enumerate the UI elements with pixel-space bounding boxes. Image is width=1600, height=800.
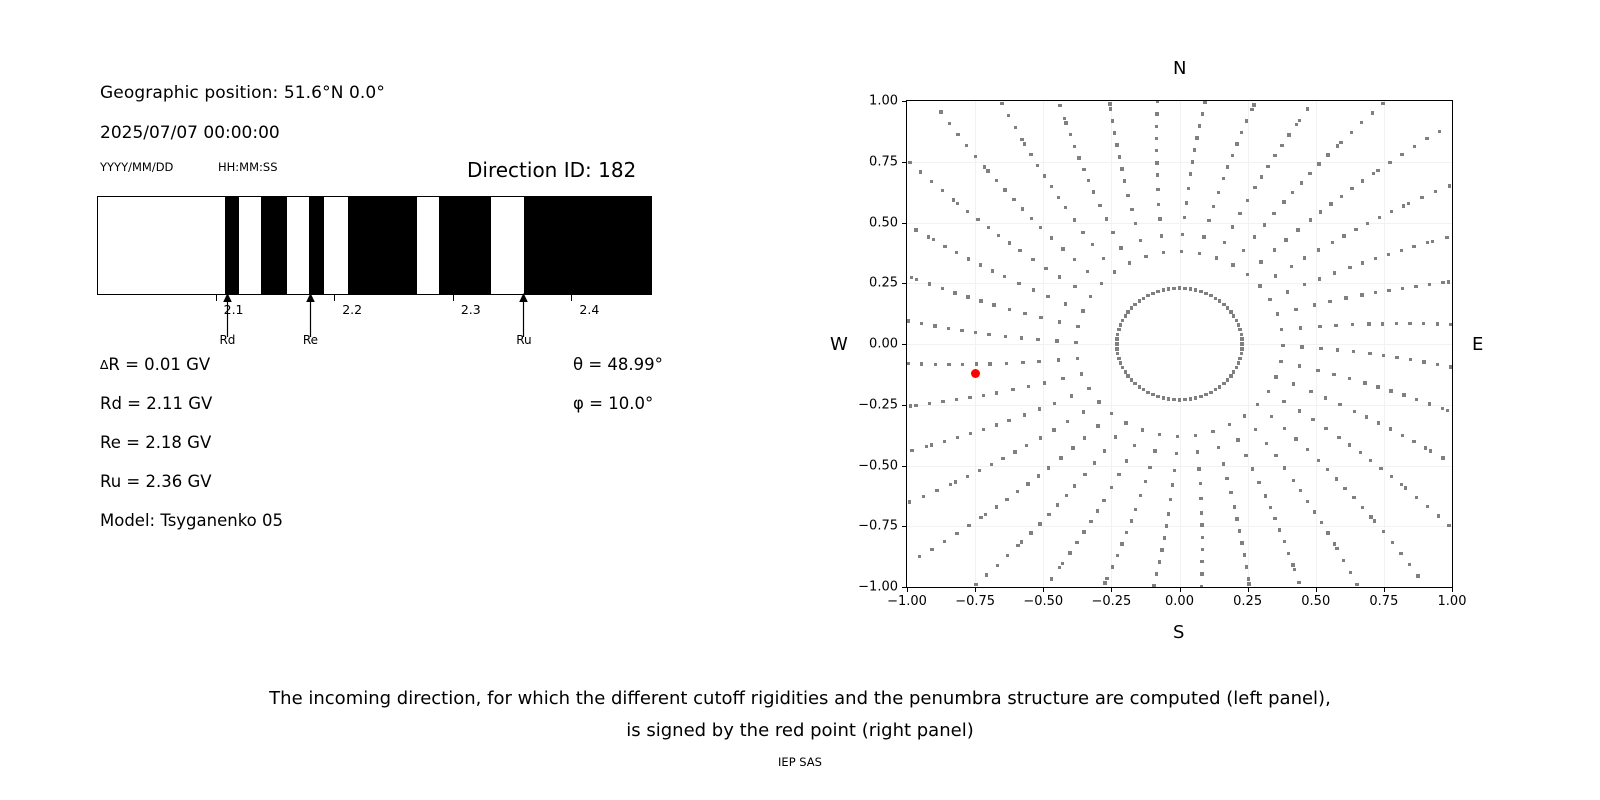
direction-point: [1231, 225, 1234, 228]
direction-point: [1424, 446, 1427, 449]
left-panel: Geographic position: 51.6°N 0.0° 2025/07…: [0, 0, 760, 660]
direction-point: [1390, 210, 1393, 213]
penumbra-marker-label-re: Re: [303, 333, 318, 347]
direction-point: [1426, 505, 1429, 508]
direction-point: [1115, 337, 1118, 340]
direction-point: [1200, 572, 1203, 575]
direction-point: [910, 449, 913, 452]
direction-point: [956, 133, 959, 136]
direction-point: [1235, 517, 1238, 520]
direction-point: [1222, 462, 1225, 465]
direction-point: [1235, 319, 1238, 322]
y-tick-label: −0.75: [858, 519, 898, 534]
direction-point: [1401, 434, 1404, 437]
direction-point: [1333, 271, 1336, 274]
direction-point: [1336, 348, 1339, 351]
direction-point: [1012, 198, 1015, 201]
direction-point: [1116, 352, 1119, 355]
direction-point: [1115, 342, 1118, 345]
direction-point: [1105, 577, 1108, 580]
direction-point: [927, 235, 930, 238]
direction-point: [1449, 323, 1452, 326]
direction-point: [995, 391, 998, 394]
direction-point: [1425, 137, 1428, 140]
direction-point: [1163, 536, 1166, 539]
direction-point: [1416, 574, 1419, 577]
direction-point: [1004, 335, 1007, 338]
direction-point: [1144, 480, 1147, 483]
direction-point: [1119, 246, 1122, 249]
direction-point: [1352, 496, 1355, 499]
direction-point: [1038, 407, 1041, 410]
direction-point: [1222, 382, 1225, 385]
direction-point: [939, 110, 942, 113]
direction-point: [1415, 398, 1418, 401]
direction-point: [1200, 511, 1203, 514]
direction-point: [1032, 288, 1035, 291]
right-panel: N S W E −1.00−0.75−0.50−0.250.000.250.50…: [760, 0, 1600, 660]
direction-point: [1231, 263, 1234, 266]
direction-point: [1191, 160, 1194, 163]
direction-point: [1103, 449, 1106, 452]
direction-point: [910, 276, 913, 279]
penumbra-tick-label: 2.3: [461, 302, 481, 317]
direction-point: [1050, 185, 1053, 188]
direction-point: [1309, 390, 1312, 393]
direction-point: [1194, 434, 1197, 437]
direction-point: [1243, 414, 1246, 417]
direction-point: [1025, 444, 1028, 447]
direction-point: [1075, 541, 1078, 544]
direction-point: [1021, 207, 1024, 210]
direction-point: [1081, 231, 1084, 234]
direction-point: [1437, 514, 1440, 517]
y-tick-mark: [902, 405, 906, 406]
selected-direction-point[interactable]: [971, 369, 980, 378]
direction-point: [1200, 560, 1203, 563]
direction-point: [1401, 287, 1404, 290]
direction-point: [1303, 256, 1306, 259]
direction-point: [1318, 325, 1321, 328]
direction-point: [1308, 172, 1311, 175]
direction-point: [1420, 196, 1423, 199]
direction-point: [1139, 239, 1142, 242]
direction-point: [1291, 563, 1294, 566]
direction-point: [1434, 190, 1437, 193]
direction-point: [1118, 155, 1121, 158]
datetime-label: 2025/07/07 00:00:00: [100, 123, 280, 143]
direction-point: [955, 398, 958, 401]
direction-point: [1047, 513, 1050, 516]
direction-point: [1240, 352, 1243, 355]
direction-point: [1116, 333, 1119, 336]
direction-point: [1276, 312, 1279, 315]
direction-point: [1146, 294, 1149, 297]
parameter--: θ = 48.99°: [573, 355, 663, 374]
direction-point: [1317, 248, 1320, 251]
direction-point: [1381, 322, 1384, 325]
direction-point: [985, 573, 988, 576]
direction-point: [1281, 344, 1284, 347]
direction-point: [1162, 396, 1165, 399]
direction-point: [1058, 104, 1061, 107]
direction-point: [922, 495, 925, 498]
direction-point: [1373, 519, 1376, 522]
direction-point: [1388, 161, 1391, 164]
direction-point: [1324, 396, 1327, 399]
direction-point: [1229, 491, 1232, 494]
direction-point: [1240, 347, 1243, 350]
compass-label-west: W: [830, 334, 848, 355]
direction-point: [1082, 530, 1085, 533]
direction-point: [1266, 165, 1269, 168]
y-tick-label: 0.25: [869, 276, 898, 291]
direction-point: [1245, 565, 1248, 568]
direction-point: [1199, 497, 1202, 500]
direction-point: [1369, 459, 1372, 462]
direction-point: [1280, 144, 1283, 147]
direction-point: [1023, 413, 1026, 416]
direction-point: [1102, 499, 1105, 502]
direction-point: [1242, 249, 1245, 252]
compass-label-north: N: [1173, 58, 1186, 79]
direction-point: [1076, 357, 1079, 360]
direction-point: [1226, 165, 1229, 168]
y-tick-mark: [902, 344, 906, 345]
direction-point: [996, 564, 999, 567]
direction-point: [1382, 530, 1385, 533]
x-tick-mark: [907, 588, 908, 592]
direction-point: [1039, 226, 1042, 229]
direction-point: [1387, 289, 1390, 292]
direction-point: [1037, 360, 1040, 363]
direction-point: [1232, 314, 1235, 317]
direction-point: [1238, 357, 1241, 360]
direction-point: [1200, 585, 1203, 588]
date-format-hint: YYYY/MM/DD: [100, 160, 173, 174]
direction-point: [1359, 451, 1362, 454]
direction-point: [1148, 466, 1151, 469]
x-tick-mark: [1111, 588, 1112, 592]
direction-point: [1096, 424, 1099, 427]
direction-point: [1165, 524, 1168, 527]
direction-point: [1212, 205, 1215, 208]
geographic-position-label: Geographic position: 51.6°N 0.0°: [100, 83, 385, 103]
direction-point: [1053, 402, 1056, 405]
direction-point: [1233, 505, 1236, 508]
direction-point: [1369, 515, 1372, 518]
direction-point: [1037, 474, 1040, 477]
y-tick-mark: [902, 587, 906, 588]
direction-point: [1008, 308, 1011, 311]
direction-point: [1279, 360, 1282, 363]
x-tick-mark: [975, 588, 976, 592]
direction-point: [1096, 509, 1099, 512]
direction-point: [1428, 283, 1431, 286]
direction-point: [1350, 131, 1353, 134]
penumbra-marker-arrow-rd: [221, 293, 234, 337]
direction-point: [1441, 456, 1444, 459]
direction-point: [1354, 228, 1357, 231]
direction-point: [1189, 172, 1192, 175]
direction-point: [1113, 270, 1116, 273]
direction-point: [1023, 312, 1026, 315]
direction-point: [914, 404, 917, 407]
direction-point: [1361, 179, 1364, 182]
direction-point: [1350, 187, 1353, 190]
penumbra-tick-label: 2.2: [342, 302, 362, 317]
direction-point: [975, 362, 978, 365]
direction-point: [992, 303, 995, 306]
direction-point: [1217, 191, 1220, 194]
direction-point: [1173, 469, 1176, 472]
direction-point: [1317, 162, 1320, 165]
direction-point: [1447, 524, 1450, 527]
direction-point: [906, 362, 909, 365]
direction-point: [1299, 326, 1302, 329]
direction-point: [1016, 544, 1019, 547]
time-format-hint: HH:MM:SS: [218, 160, 278, 174]
direction-point: [948, 122, 951, 125]
direction-point: [1240, 333, 1243, 336]
y-tick-mark: [902, 223, 906, 224]
direction-point: [1083, 436, 1086, 439]
direction-point: [1039, 316, 1042, 319]
direction-point: [1098, 204, 1101, 207]
direction-point: [1240, 337, 1243, 340]
direction-point: [1447, 280, 1450, 283]
parameter-re: Re = 2.18 GV: [100, 433, 211, 452]
direction-point: [952, 198, 955, 201]
direction-point: [1050, 577, 1053, 580]
direction-point: [987, 333, 990, 336]
direction-point: [1172, 398, 1175, 401]
direction-point: [1250, 108, 1253, 111]
direction-point: [1209, 294, 1212, 297]
direction-point: [1155, 149, 1158, 152]
direction-point: [1123, 179, 1126, 182]
x-tick-label: −0.75: [955, 594, 995, 609]
direction-point: [1111, 231, 1114, 234]
penumbra-tick-mark: [453, 295, 454, 301]
direction-point: [1371, 111, 1374, 114]
direction-point: [1087, 179, 1090, 182]
direction-point: [915, 278, 918, 281]
direction-point: [1130, 208, 1133, 211]
direction-point: [974, 155, 977, 158]
direction-point: [1300, 345, 1303, 348]
direction-point: [1226, 306, 1229, 309]
direction-point: [990, 463, 993, 466]
direction-point: [1376, 385, 1379, 388]
direction-point: [1151, 292, 1154, 295]
direction-point: [1332, 373, 1335, 376]
direction-point: [1395, 356, 1398, 359]
direction-point: [1299, 489, 1302, 492]
direction-point: [1038, 522, 1041, 525]
penumbra-bar: [97, 196, 652, 295]
direction-point: [1422, 322, 1425, 325]
y-tick-mark: [902, 526, 906, 527]
direction-point: [925, 445, 928, 448]
y-tick-label: 0.50: [869, 215, 898, 230]
direction-point: [1244, 454, 1247, 457]
direction-point: [1306, 500, 1309, 503]
direction-point: [1290, 265, 1293, 268]
direction-point: [1077, 156, 1080, 159]
direction-point: [1273, 154, 1276, 157]
direction-point: [1116, 554, 1119, 557]
direction-point: [1335, 477, 1338, 480]
direction-point: [976, 218, 979, 221]
direction-point: [1246, 273, 1249, 276]
direction-point: [907, 319, 910, 322]
direction-point: [1400, 249, 1403, 252]
y-tick-mark: [902, 283, 906, 284]
direction-point: [1413, 145, 1416, 148]
direction-point: [1334, 324, 1337, 327]
direction-point: [1005, 362, 1008, 365]
direction-point: [1203, 100, 1206, 103]
direction-point: [1211, 430, 1214, 433]
direction-point: [1229, 374, 1232, 377]
penumbra-marker-arrow-ru: [517, 293, 530, 337]
penumbra-tick-mark: [216, 295, 217, 301]
direction-point: [1093, 461, 1096, 464]
direction-point: [1003, 275, 1006, 278]
direction-point: [1013, 450, 1016, 453]
direction-point: [1218, 299, 1221, 302]
penumbra-marker-label-rd: Rd: [219, 333, 235, 347]
penumbra-tick-mark: [571, 295, 572, 301]
grid-line-horizontal: [907, 283, 1452, 284]
direction-point: [1298, 119, 1301, 122]
direction-point: [1089, 295, 1092, 298]
direction-point: [914, 228, 917, 231]
direction-point: [979, 516, 982, 519]
direction-point: [1298, 409, 1301, 412]
direction-point: [1142, 388, 1145, 391]
direction-point: [1407, 202, 1410, 205]
direction-point: [949, 483, 952, 486]
direction-point: [1229, 310, 1232, 313]
x-tick-label: 0.00: [1165, 594, 1194, 609]
direction-point: [941, 189, 944, 192]
direction-point: [1175, 452, 1178, 455]
direction-point: [1183, 287, 1186, 290]
direction-point: [920, 362, 923, 365]
direction-point: [1438, 130, 1441, 133]
direction-point: [1026, 482, 1029, 485]
direction-point: [1130, 378, 1133, 381]
direction-scatter-plot: [906, 100, 1453, 588]
direction-point: [1382, 354, 1385, 357]
caption-line-1: The incoming direction, for which the di…: [0, 683, 1600, 715]
direction-point: [1155, 112, 1158, 115]
x-tick-label: −0.50: [1023, 594, 1063, 609]
direction-point: [1061, 377, 1064, 380]
direction-point: [1365, 415, 1368, 418]
direction-point: [979, 263, 982, 266]
parameter-ru: Ru = 2.36 GV: [100, 472, 212, 491]
direction-point: [1342, 559, 1345, 562]
direction-point: [1360, 121, 1363, 124]
direction-point: [1293, 568, 1296, 571]
direction-point: [1167, 397, 1170, 400]
direction-point: [1306, 448, 1309, 451]
direction-point: [1264, 494, 1267, 497]
direction-point: [1381, 102, 1384, 105]
direction-point: [1339, 141, 1342, 144]
direction-point: [1408, 322, 1411, 325]
direction-point: [991, 269, 994, 272]
direction-point: [1199, 395, 1202, 398]
direction-point: [1436, 363, 1439, 366]
direction-point: [1157, 203, 1160, 206]
grid-line-horizontal: [907, 223, 1452, 224]
direction-point: [909, 404, 912, 407]
direction-point: [1291, 191, 1294, 194]
direction-point: [1265, 442, 1268, 445]
direction-point: [1269, 506, 1272, 509]
direction-point: [1429, 449, 1432, 452]
direction-point: [1138, 299, 1141, 302]
direction-point: [1387, 253, 1390, 256]
direction-point: [1286, 290, 1289, 293]
direction-point: [979, 299, 982, 302]
direction-point: [1282, 200, 1285, 203]
direction-point: [1238, 328, 1241, 331]
direction-point: [1247, 582, 1250, 585]
direction-point: [1052, 428, 1055, 431]
direction-point: [1238, 529, 1241, 532]
direction-point: [983, 165, 986, 168]
penumbra-forbidden-band: [225, 197, 239, 294]
direction-point: [1080, 372, 1083, 375]
direction-point: [960, 329, 963, 332]
direction-point: [1155, 161, 1158, 164]
direction-point: [953, 291, 956, 294]
direction-point: [1160, 234, 1163, 237]
direction-point: [1245, 119, 1248, 122]
direction-point: [1395, 322, 1398, 325]
y-tick-label: −1.00: [858, 580, 898, 595]
direction-point: [995, 423, 998, 426]
direction-point: [1117, 328, 1120, 331]
direction-point: [1181, 233, 1184, 236]
direction-point: [1070, 394, 1073, 397]
direction-point: [1119, 323, 1122, 326]
direction-point: [1073, 218, 1076, 221]
direction-point: [933, 324, 936, 327]
direction-point: [1020, 138, 1023, 141]
direction-point: [1120, 167, 1123, 170]
direction-point: [1441, 281, 1444, 284]
direction-point: [1156, 188, 1159, 191]
direction-point: [1408, 563, 1411, 566]
direction-point: [1081, 309, 1084, 312]
direction-point: [1036, 338, 1039, 341]
direction-point: [943, 440, 946, 443]
direction-point: [1222, 177, 1225, 180]
direction-point: [1268, 298, 1271, 301]
direction-point: [930, 548, 933, 551]
direction-point: [1155, 125, 1158, 128]
direction-point: [1306, 107, 1309, 110]
direction-point: [1082, 168, 1085, 171]
direction-point: [1047, 466, 1050, 469]
direction-point: [997, 234, 1000, 237]
